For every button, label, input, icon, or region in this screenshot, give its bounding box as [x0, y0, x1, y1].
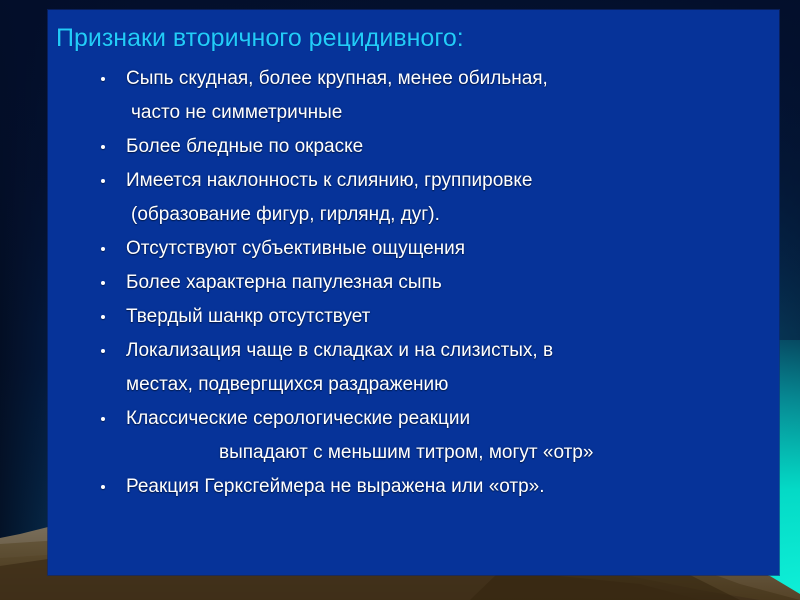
bullet-dot-icon: [101, 145, 105, 149]
bullet-dot-icon: [101, 485, 105, 489]
list-item: выпадают с меньшим титром, могут «отр»: [48, 436, 779, 470]
list-item-text: Реакция Герксгеймера не выражена или «от…: [126, 470, 545, 504]
content-panel: Признаки вторичного рецидивного: Сыпь ск…: [48, 10, 779, 575]
list-item-text: выпадают с меньшим титром, могут «отр»: [219, 436, 593, 470]
list-item: Отсутствуют субъективные ощущения: [48, 232, 779, 266]
list-item-text: (образование фигур, гирлянд, дуг).: [131, 198, 440, 232]
list-item: Реакция Герксгеймера не выражена или «от…: [48, 470, 779, 504]
slide: Признаки вторичного рецидивного: Сыпь ск…: [0, 0, 800, 600]
list-item: Более характерна папулезная сыпь: [48, 266, 779, 300]
bullet-dot-icon: [101, 349, 105, 353]
list-item: Сыпь скудная, более крупная, менее обиль…: [48, 62, 779, 96]
list-item: Твердый шанкр отсутствует: [48, 300, 779, 334]
list-item-text: Сыпь скудная, более крупная, менее обиль…: [126, 62, 548, 96]
bullet-dot-icon: [101, 77, 105, 81]
list-item-text: Локализация чаще в складках и на слизист…: [126, 334, 553, 368]
list-item-text: часто не симметричные: [131, 96, 342, 130]
list-item: часто не симметричные: [48, 96, 779, 130]
bullet-dot-icon: [101, 315, 105, 319]
list-item: местах, подвергщихся раздражению: [48, 368, 779, 402]
list-item: Локализация чаще в складках и на слизист…: [48, 334, 779, 368]
list-item-text: Более бледные по окраске: [126, 130, 363, 164]
list-item: Более бледные по окраске: [48, 130, 779, 164]
list-item: (образование фигур, гирлянд, дуг).: [48, 198, 779, 232]
bullet-dot-icon: [101, 417, 105, 421]
list-item-text: Имеется наклонность к слиянию, группиров…: [126, 164, 532, 198]
list-item-text: Более характерна папулезная сыпь: [126, 266, 442, 300]
list-item-text: Твердый шанкр отсутствует: [126, 300, 370, 334]
list-item: Имеется наклонность к слиянию, группиров…: [48, 164, 779, 198]
page-title: Признаки вторичного рецидивного:: [56, 23, 464, 53]
list-item-text: Отсутствуют субъективные ощущения: [126, 232, 465, 266]
bullet-dot-icon: [101, 281, 105, 285]
bullet-dot-icon: [101, 179, 105, 183]
bullet-dot-icon: [101, 247, 105, 251]
list-item: Классические серологические реакции: [48, 402, 779, 436]
bullet-list: Сыпь скудная, более крупная, менее обиль…: [48, 62, 779, 504]
list-item-text: Классические серологические реакции: [126, 402, 470, 436]
list-item-text: местах, подвергщихся раздражению: [126, 368, 448, 402]
